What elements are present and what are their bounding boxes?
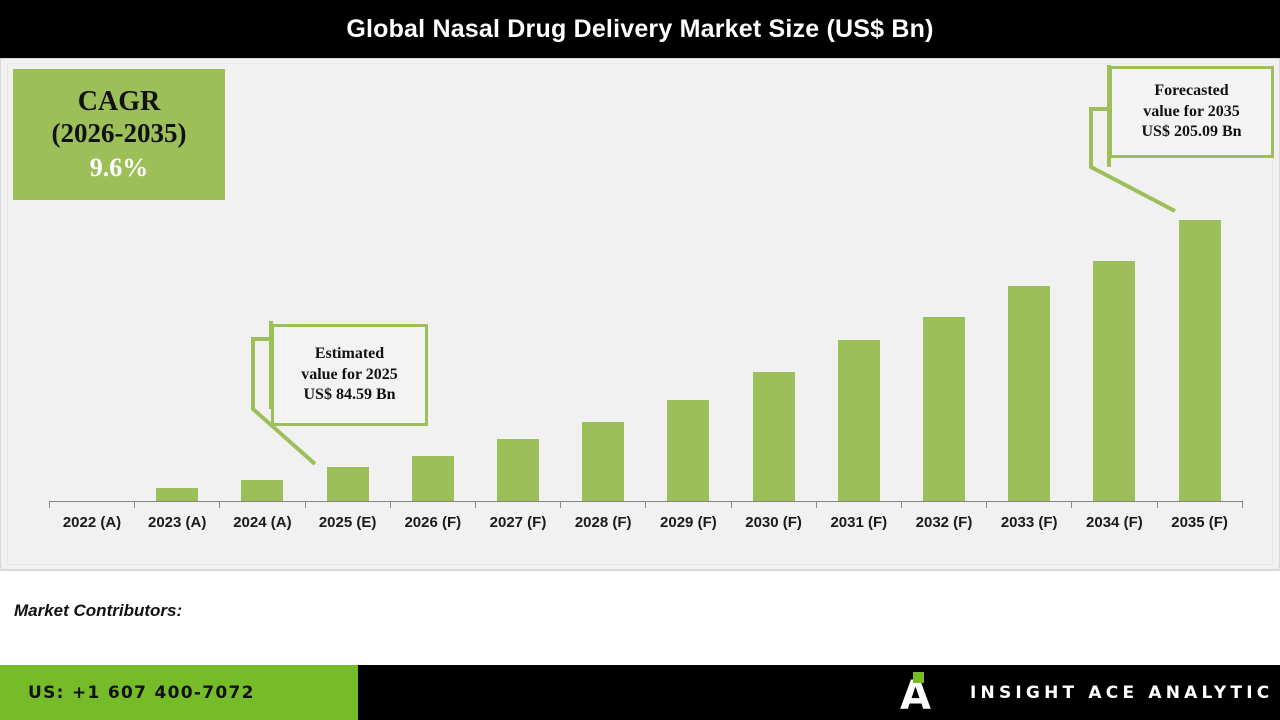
forecast-callout-line2: value for 2035	[1112, 102, 1271, 122]
bar-2029	[667, 400, 709, 501]
estimated-callout-line3: US$ 84.59 Bn	[274, 385, 425, 405]
forecast-value-callout: Forecasted value for 2035 US$ 205.09 Bn	[1109, 66, 1274, 158]
forecast-callout-line3: US$ 205.09 Bn	[1112, 122, 1271, 142]
x-axis-tick	[645, 501, 646, 508]
footer-contact-block: US: +1 607 400-7072	[0, 665, 358, 720]
x-axis-tick	[134, 501, 135, 508]
bar-2034	[1093, 261, 1135, 501]
x-axis-tick	[390, 501, 391, 508]
x-axis-tick	[475, 501, 476, 508]
x-axis-tick	[219, 501, 220, 508]
bar-2027	[497, 439, 539, 501]
x-axis-tick	[1071, 501, 1072, 508]
bar-2024	[241, 480, 283, 501]
title-bar: Global Nasal Drug Delivery Market Size (…	[0, 0, 1280, 58]
infographic-root: Global Nasal Drug Delivery Market Size (…	[0, 0, 1280, 720]
estimated-callout-line2: value for 2025	[274, 365, 425, 385]
x-axis-tick	[816, 501, 817, 508]
x-axis-tick	[305, 501, 306, 508]
x-axis-tick	[1242, 501, 1243, 508]
estimated-value-callout: Estimated value for 2025 US$ 84.59 Bn	[271, 324, 428, 426]
brand-green-square-icon	[913, 672, 924, 683]
bar-2026	[412, 456, 454, 501]
bar-2023	[156, 488, 198, 501]
brand-letter-a: A	[900, 678, 942, 714]
x-axis-label: 2035 (F)	[1137, 514, 1263, 531]
x-axis-line	[49, 501, 1242, 502]
bar-2028	[582, 422, 624, 501]
x-axis-tick	[1157, 501, 1158, 508]
market-contributors-label: Market Contributors:	[14, 601, 182, 621]
bar-2025	[327, 467, 369, 501]
x-axis-tick	[901, 501, 902, 508]
x-axis-tick	[731, 501, 732, 508]
bar-2031	[838, 340, 880, 501]
forecast-callout-line1: Forecasted	[1112, 81, 1271, 101]
bar-2030	[753, 372, 795, 501]
footer-bar: US: +1 607 400-7072 A INSIGHT ACE ANALYT…	[0, 665, 1280, 720]
bar-2032	[923, 317, 965, 501]
insight-ace-logo-icon: A	[900, 672, 944, 714]
bar-2035	[1179, 220, 1221, 501]
bar-2033	[1008, 286, 1050, 501]
estimated-callout-line1: Estimated	[274, 344, 425, 364]
market-contributors-band: Market Contributors: gsk GlaxoSmithKline…	[0, 570, 1280, 665]
brand-block: A INSIGHT ACE ANALYTIC	[900, 665, 1273, 720]
x-axis-tick	[986, 501, 987, 508]
chart-panel: CAGR (2026-2035) 9.6% 2022 (A)2023 (A)20…	[0, 58, 1280, 570]
brand-name: INSIGHT ACE ANALYTIC	[970, 683, 1273, 703]
footer-phone[interactable]: US: +1 607 400-7072	[28, 683, 255, 703]
x-axis-tick	[49, 501, 50, 508]
page-title: Global Nasal Drug Delivery Market Size (…	[346, 15, 933, 44]
x-axis-tick	[560, 501, 561, 508]
